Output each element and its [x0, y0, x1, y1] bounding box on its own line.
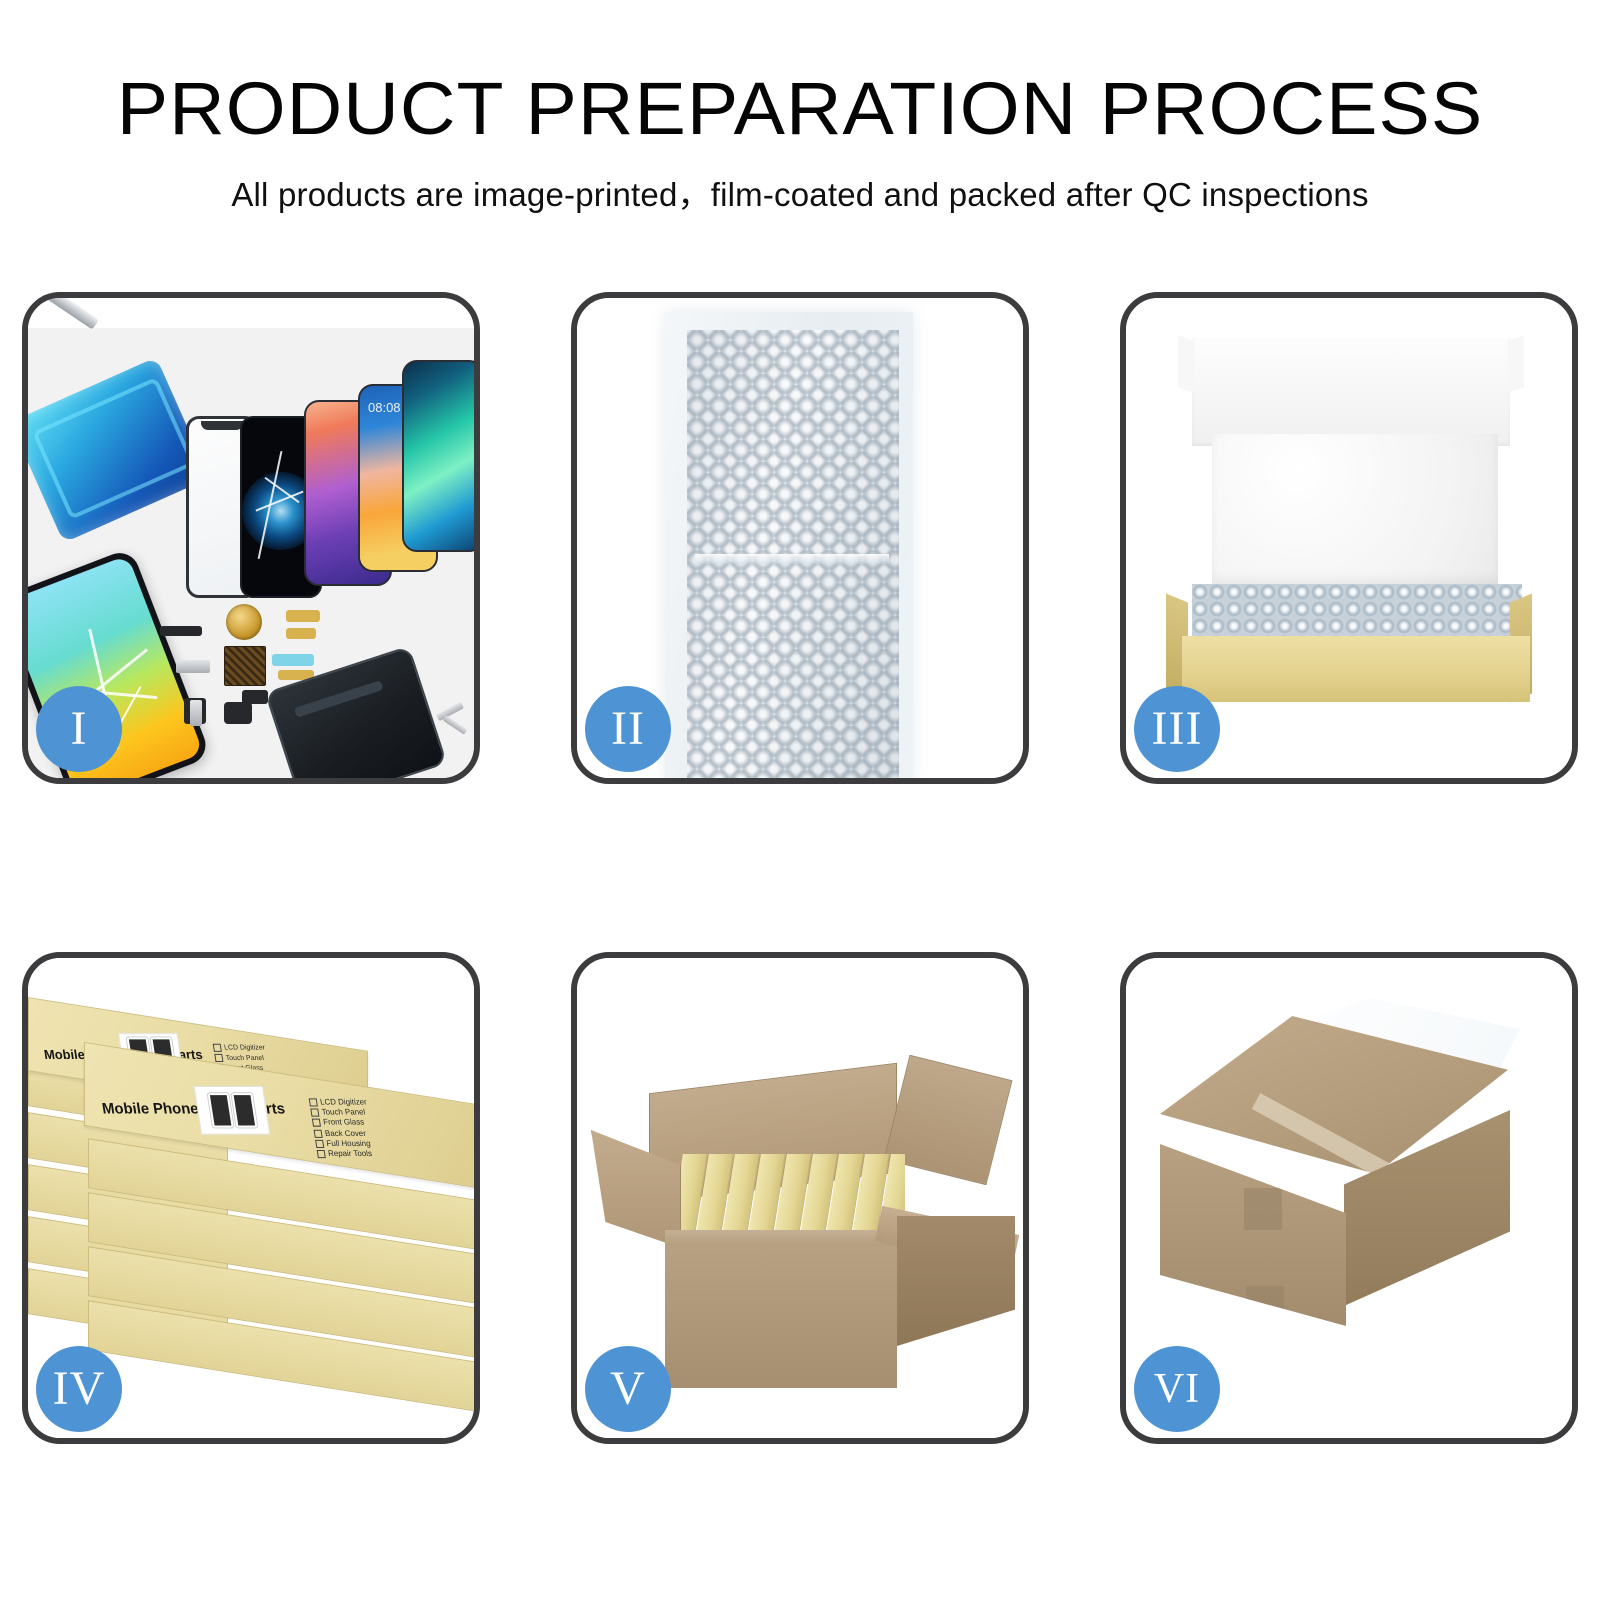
flex-cable-b — [286, 628, 316, 639]
process-step-panel-2: II — [571, 292, 1029, 784]
carton-seam-tab-upper — [1244, 1188, 1282, 1230]
step-badge-3: III — [1134, 686, 1220, 772]
page-title: PRODUCT PREPARATION PROCESS — [0, 72, 1600, 146]
step-badge-6: VI — [1134, 1346, 1220, 1432]
ic-chip — [224, 646, 266, 686]
speaker-component — [160, 626, 202, 636]
charging-port — [224, 702, 252, 724]
mailer-box-lid — [1192, 338, 1510, 446]
step-badge-5: V — [585, 1346, 671, 1432]
phone-clock-text: 08:08 — [368, 400, 401, 415]
process-step-panel-6: VI — [1120, 952, 1578, 1444]
box-product-photo-b — [194, 1086, 271, 1135]
box-checklist-b: LCD Digitizer Touch Panel Front Glass Ba… — [309, 1097, 376, 1159]
mailer-box-front-wall — [1182, 636, 1530, 702]
foam-insert — [1212, 434, 1498, 584]
page-header: PRODUCT PREPARATION PROCESS All products… — [0, 0, 1600, 216]
flex-cable-a — [286, 610, 320, 622]
bubble-wrap-pouch — [665, 312, 913, 778]
process-step-panel-3: III — [1120, 292, 1578, 784]
step-badge-1: I — [36, 686, 122, 772]
pouch-seam — [695, 554, 889, 564]
carton-front-face — [665, 1246, 897, 1388]
process-step-panel-1: 08:08 — [22, 292, 480, 784]
step-badge-4: IV — [36, 1346, 122, 1432]
flex-cable-c — [272, 654, 314, 666]
wireless-charging-coil — [226, 604, 262, 640]
step-badge-2: II — [585, 686, 671, 772]
bubble-wrapped-contents — [1192, 584, 1522, 638]
sim-tray — [190, 700, 202, 726]
metal-bracket — [176, 660, 210, 673]
process-step-panel-5: V — [571, 952, 1029, 1444]
process-step-grid: 08:08 — [22, 292, 1578, 1444]
page-subtitle: All products are image-printed，film-coat… — [0, 168, 1600, 216]
process-step-panel-4: Mobile Phone Spare Parts LCD Digitizer T… — [22, 952, 480, 1444]
teal-gradient-phone — [402, 360, 474, 552]
